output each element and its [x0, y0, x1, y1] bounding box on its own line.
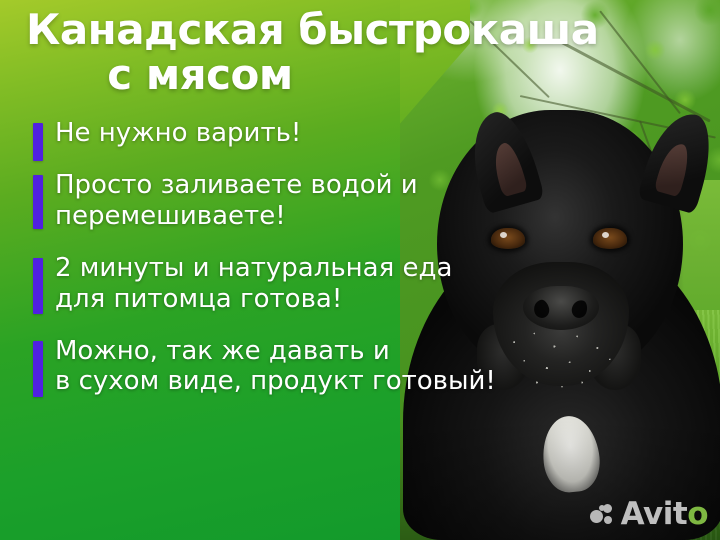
list-item-label: Можно, так же давать и в сухом виде, про…	[33, 336, 496, 397]
list-item-label: Не нужно варить!	[33, 118, 301, 148]
list-item: Просто заливаете водой и перемешиваете!	[0, 170, 600, 231]
list-item-label: 2 минуты и натуральная еда для питомца г…	[33, 253, 452, 314]
headline-line-2: с мясом	[0, 53, 400, 98]
headline-line-1: Канадская быстрокаша	[0, 8, 600, 53]
bullet-marker-icon	[33, 175, 43, 229]
list-item-label: Просто заливаете водой и перемешиваете!	[33, 170, 418, 231]
dog-ear-right-icon	[637, 106, 720, 215]
list-item: Можно, так же давать и в сухом виде, про…	[0, 336, 600, 397]
list-item: Не нужно варить!	[0, 118, 600, 148]
avito-dots-icon	[590, 504, 614, 526]
feature-list: Не нужно варить! Просто заливаете водой …	[0, 118, 600, 419]
page-title: Канадская быстрокаша с мясом	[0, 8, 600, 98]
avito-wordmark: Avito	[621, 499, 708, 530]
bullet-marker-icon	[33, 341, 43, 397]
advertisement-banner: Канадская быстрокаша с мясом Не нужно ва…	[0, 0, 720, 540]
bullet-marker-icon	[33, 258, 43, 314]
avito-wordmark-light: Avit	[621, 496, 688, 532]
list-item: 2 минуты и натуральная еда для питомца г…	[0, 253, 600, 314]
avito-watermark: Avito	[590, 499, 708, 530]
bullet-marker-icon	[33, 123, 43, 161]
avito-wordmark-accent: o	[687, 496, 708, 532]
